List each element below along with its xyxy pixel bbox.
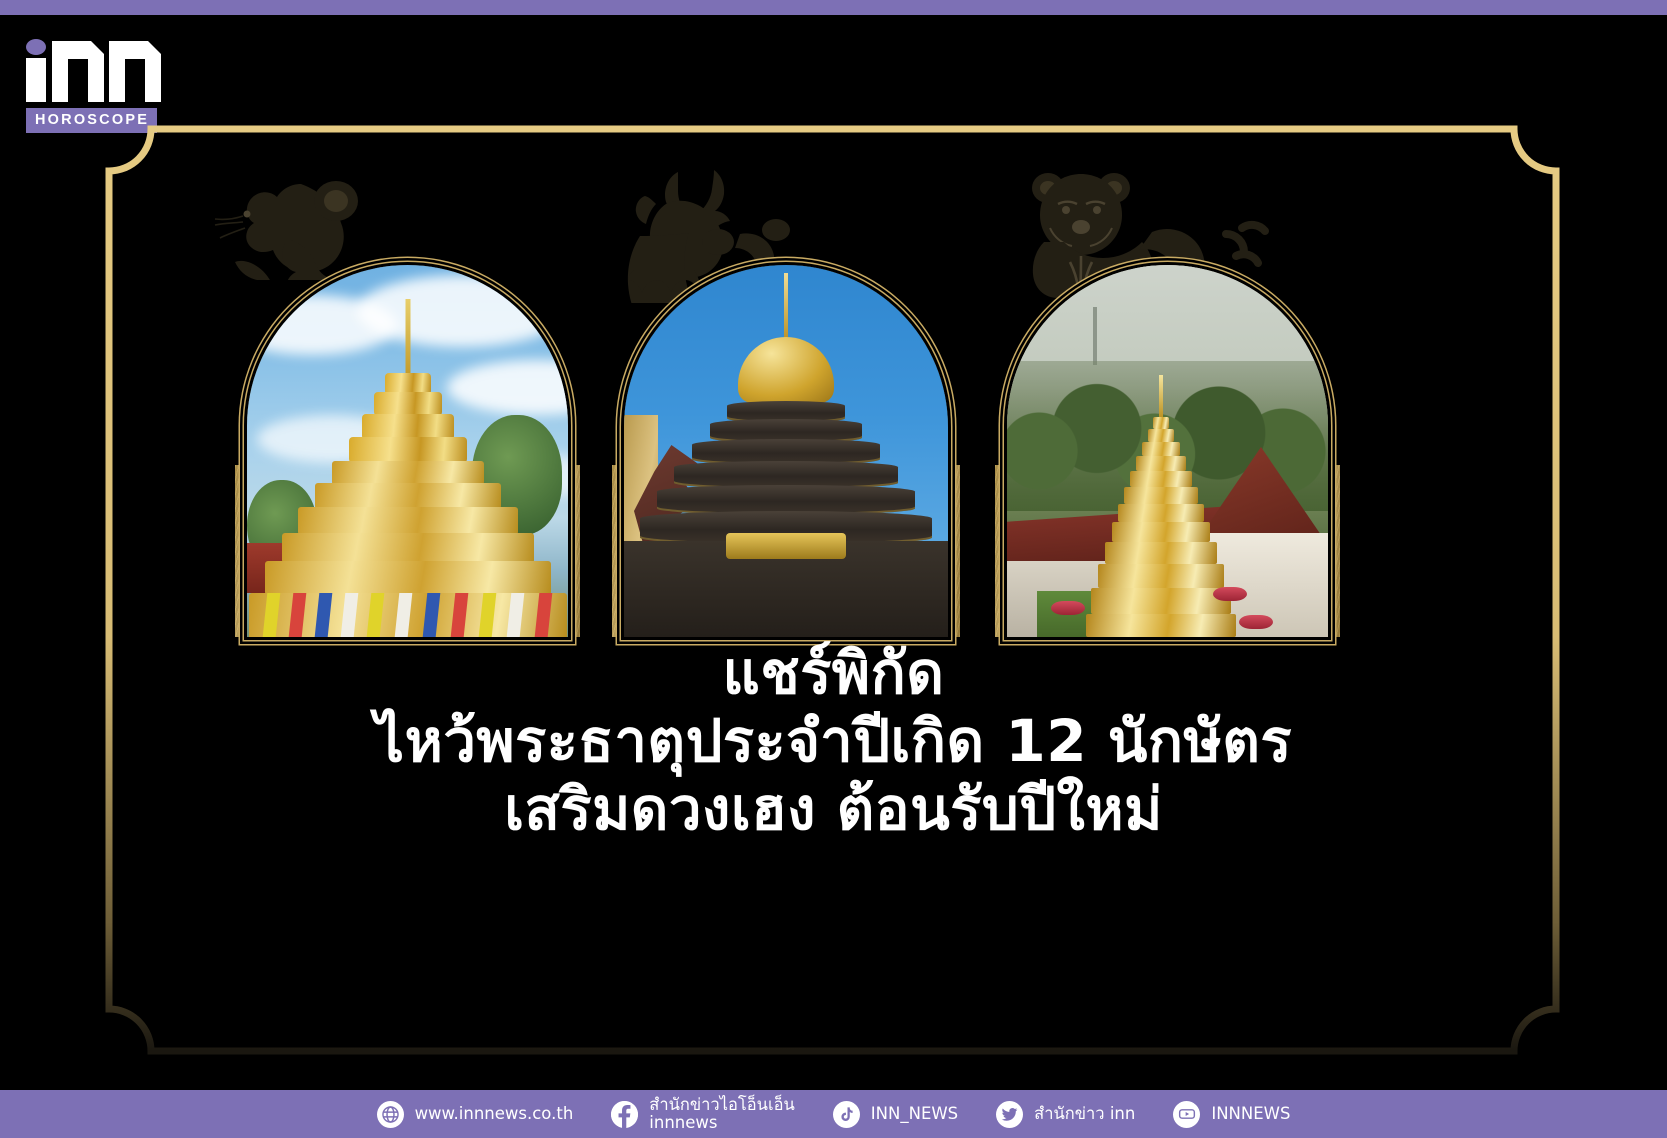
footer-bar: www.innnews.co.th สำนักข่าวไอโอ็นเอ็น in… (0, 1090, 1667, 1138)
tiktok-icon (833, 1101, 860, 1128)
inn-wordmark (22, 38, 162, 84)
footer-facebook-label: สำนักข่าวไอโอ็นเอ็น innnews (649, 1096, 795, 1133)
headline-line-3: เสริมดวงเฮง ต้อนรับปีใหม่ (0, 776, 1667, 844)
rat-silhouette-icon (205, 170, 405, 280)
logo-letter-n-2 (109, 41, 161, 102)
twitter-icon (996, 1101, 1023, 1128)
temple-photo-2 (612, 265, 960, 637)
logo-dot (26, 39, 46, 55)
footer-twitter[interactable]: สำนักข่าว inn (996, 1101, 1135, 1128)
top-accent-bar (0, 0, 1667, 15)
footer-tiktok-label: INN_NEWS (871, 1105, 958, 1123)
arch-window-2 (624, 265, 948, 637)
footer-youtube[interactable]: INNNEWS (1173, 1101, 1290, 1128)
logo-letter-n-1 (52, 41, 104, 102)
footer-facebook-line1: สำนักข่าวไอโอ็นเอ็น (649, 1095, 795, 1114)
logo-letter-i (26, 58, 46, 102)
headline-line-2: ไหว้พระธาตุประจำปีเกิด 12 นักษัตร (0, 708, 1667, 776)
temple-photo-3 (995, 265, 1340, 637)
photo-aerial-temple (1007, 265, 1328, 637)
footer-website-label: www.innnews.co.th (415, 1105, 574, 1123)
footer-youtube-label: INNNEWS (1211, 1105, 1290, 1123)
footer-facebook[interactable]: สำนักข่าวไอโอ็นเอ็น innnews (611, 1096, 795, 1133)
arch-window-1 (247, 265, 568, 637)
facebook-icon (611, 1101, 638, 1128)
globe-icon (377, 1101, 404, 1128)
poster-root: HOROSCOPE (0, 0, 1667, 1138)
arch-window-3 (1007, 265, 1328, 637)
headline-block: แชร์พิกัด ไหว้พระธาตุประจำปีเกิด 12 นักษ… (0, 640, 1667, 844)
footer-website[interactable]: www.innnews.co.th (377, 1101, 574, 1128)
temple-photo-1 (235, 265, 580, 637)
youtube-icon (1173, 1101, 1200, 1128)
photo-bronze-stupa (624, 265, 948, 637)
headline-line-1: แชร์พิกัด (0, 640, 1667, 708)
photo-golden-chedi (247, 265, 568, 637)
logo-horoscope-badge: HOROSCOPE (26, 108, 157, 133)
temple-photo-row (0, 265, 1667, 637)
footer-tiktok[interactable]: INN_NEWS (833, 1101, 958, 1128)
footer-twitter-label: สำนักข่าว inn (1034, 1105, 1135, 1123)
footer-facebook-line2: innnews (649, 1114, 795, 1132)
inn-horoscope-logo: HOROSCOPE (22, 38, 162, 113)
